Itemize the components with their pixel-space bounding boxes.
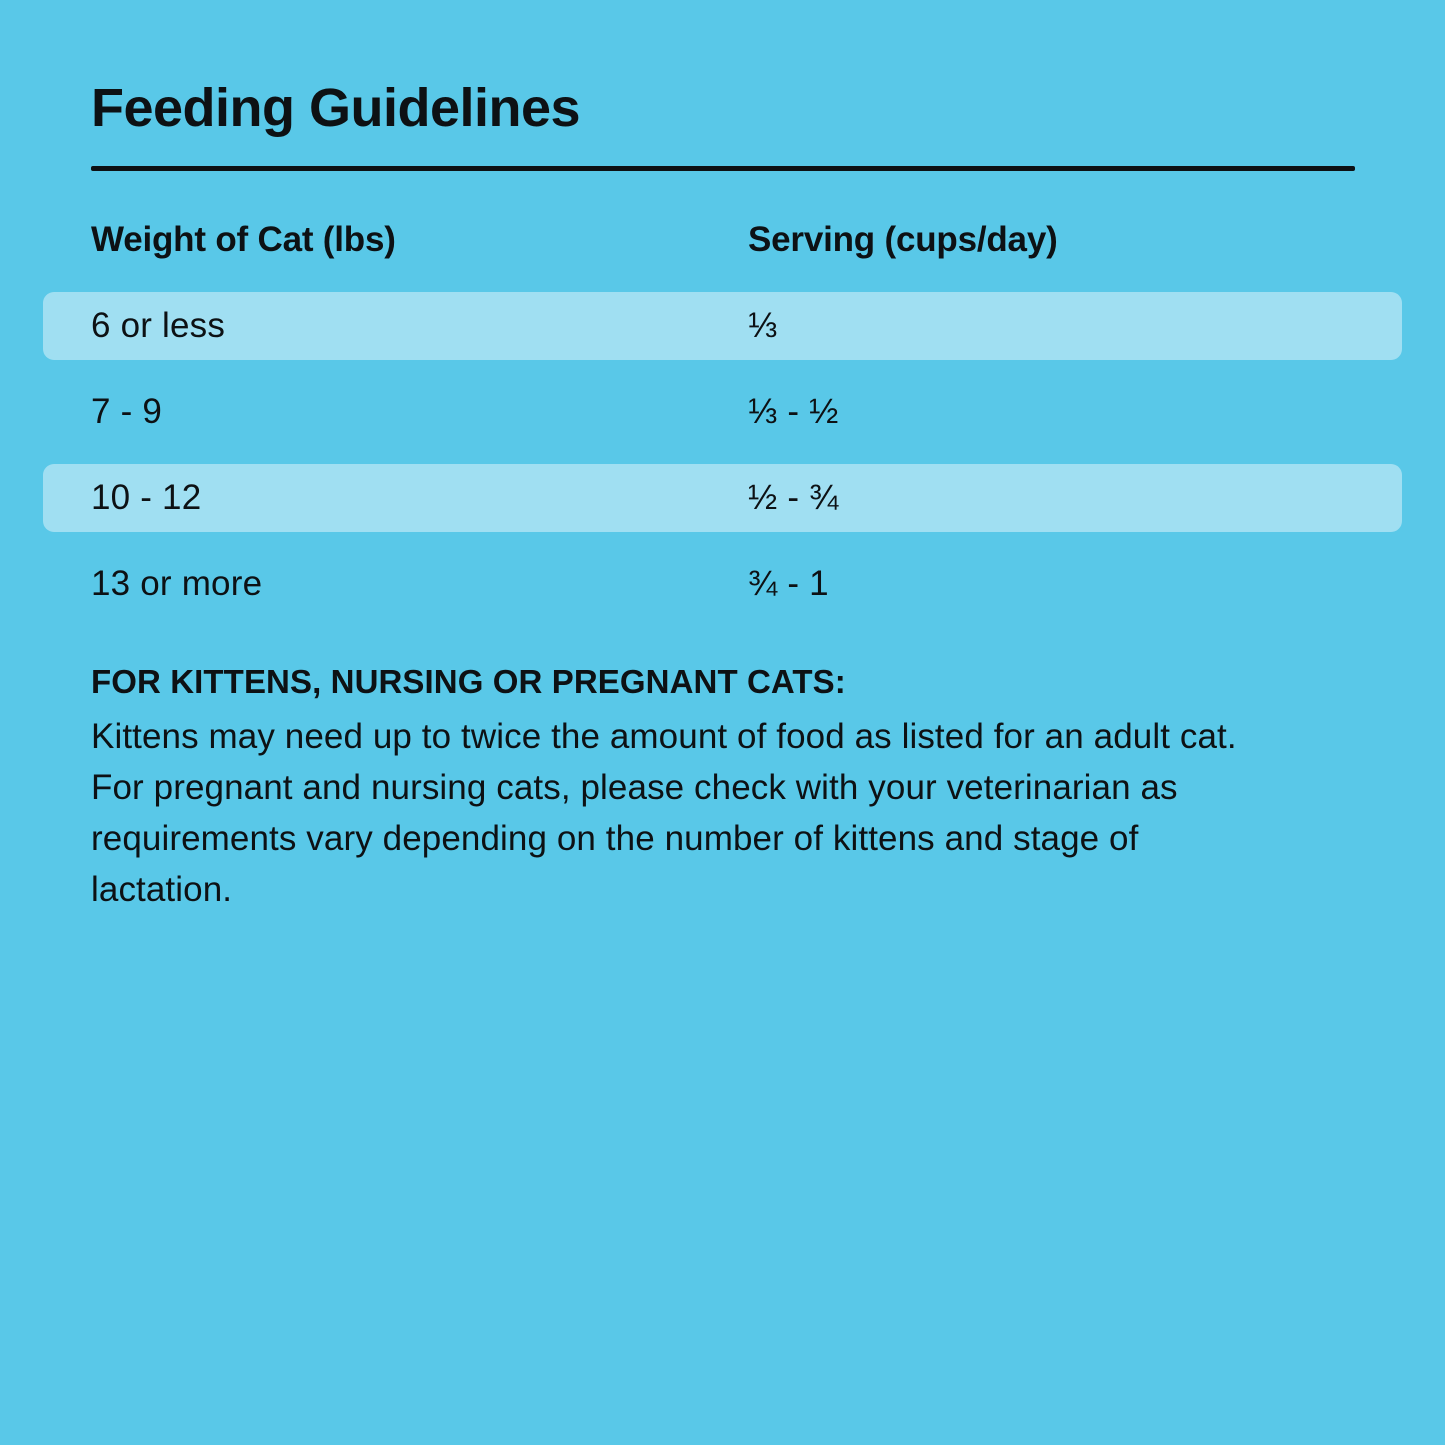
table-row: 6 or less ⅓ [0,292,1445,378]
table-row: 10 - 12 ½ - ¾ [0,464,1445,550]
kitten-note: FOR KITTENS, NURSING OR PREGNANT CATS: K… [91,657,1291,915]
cell-weight: 13 or more [91,561,262,607]
table-row: 13 or more ¾ - 1 [0,550,1445,636]
row-band [43,464,1402,532]
feeding-table: Weight of Cat (lbs) Serving (cups/day) 6… [0,206,1445,636]
table-header-row: Weight of Cat (lbs) Serving (cups/day) [0,206,1445,292]
kitten-note-heading: FOR KITTENS, NURSING OR PREGNANT CATS: [91,657,1291,707]
column-header-weight: Weight of Cat (lbs) [91,220,396,260]
feeding-guidelines-panel: Feeding Guidelines Weight of Cat (lbs) S… [0,0,1445,1445]
kitten-note-body: Kittens may need up to twice the amount … [91,711,1281,915]
table-row: 7 - 9 ⅓ - ½ [0,378,1445,464]
cell-weight: 10 - 12 [91,475,201,521]
column-header-serving: Serving (cups/day) [748,220,1058,260]
row-band [43,292,1402,360]
cell-weight: 6 or less [91,303,225,349]
page-title: Feeding Guidelines [91,80,580,137]
title-divider [91,166,1355,171]
cell-serving: ⅓ [748,303,777,349]
cell-weight: 7 - 9 [91,389,162,435]
cell-serving: ⅓ - ½ [748,389,838,435]
cell-serving: ¾ - 1 [748,561,829,607]
cell-serving: ½ - ¾ [748,475,838,521]
